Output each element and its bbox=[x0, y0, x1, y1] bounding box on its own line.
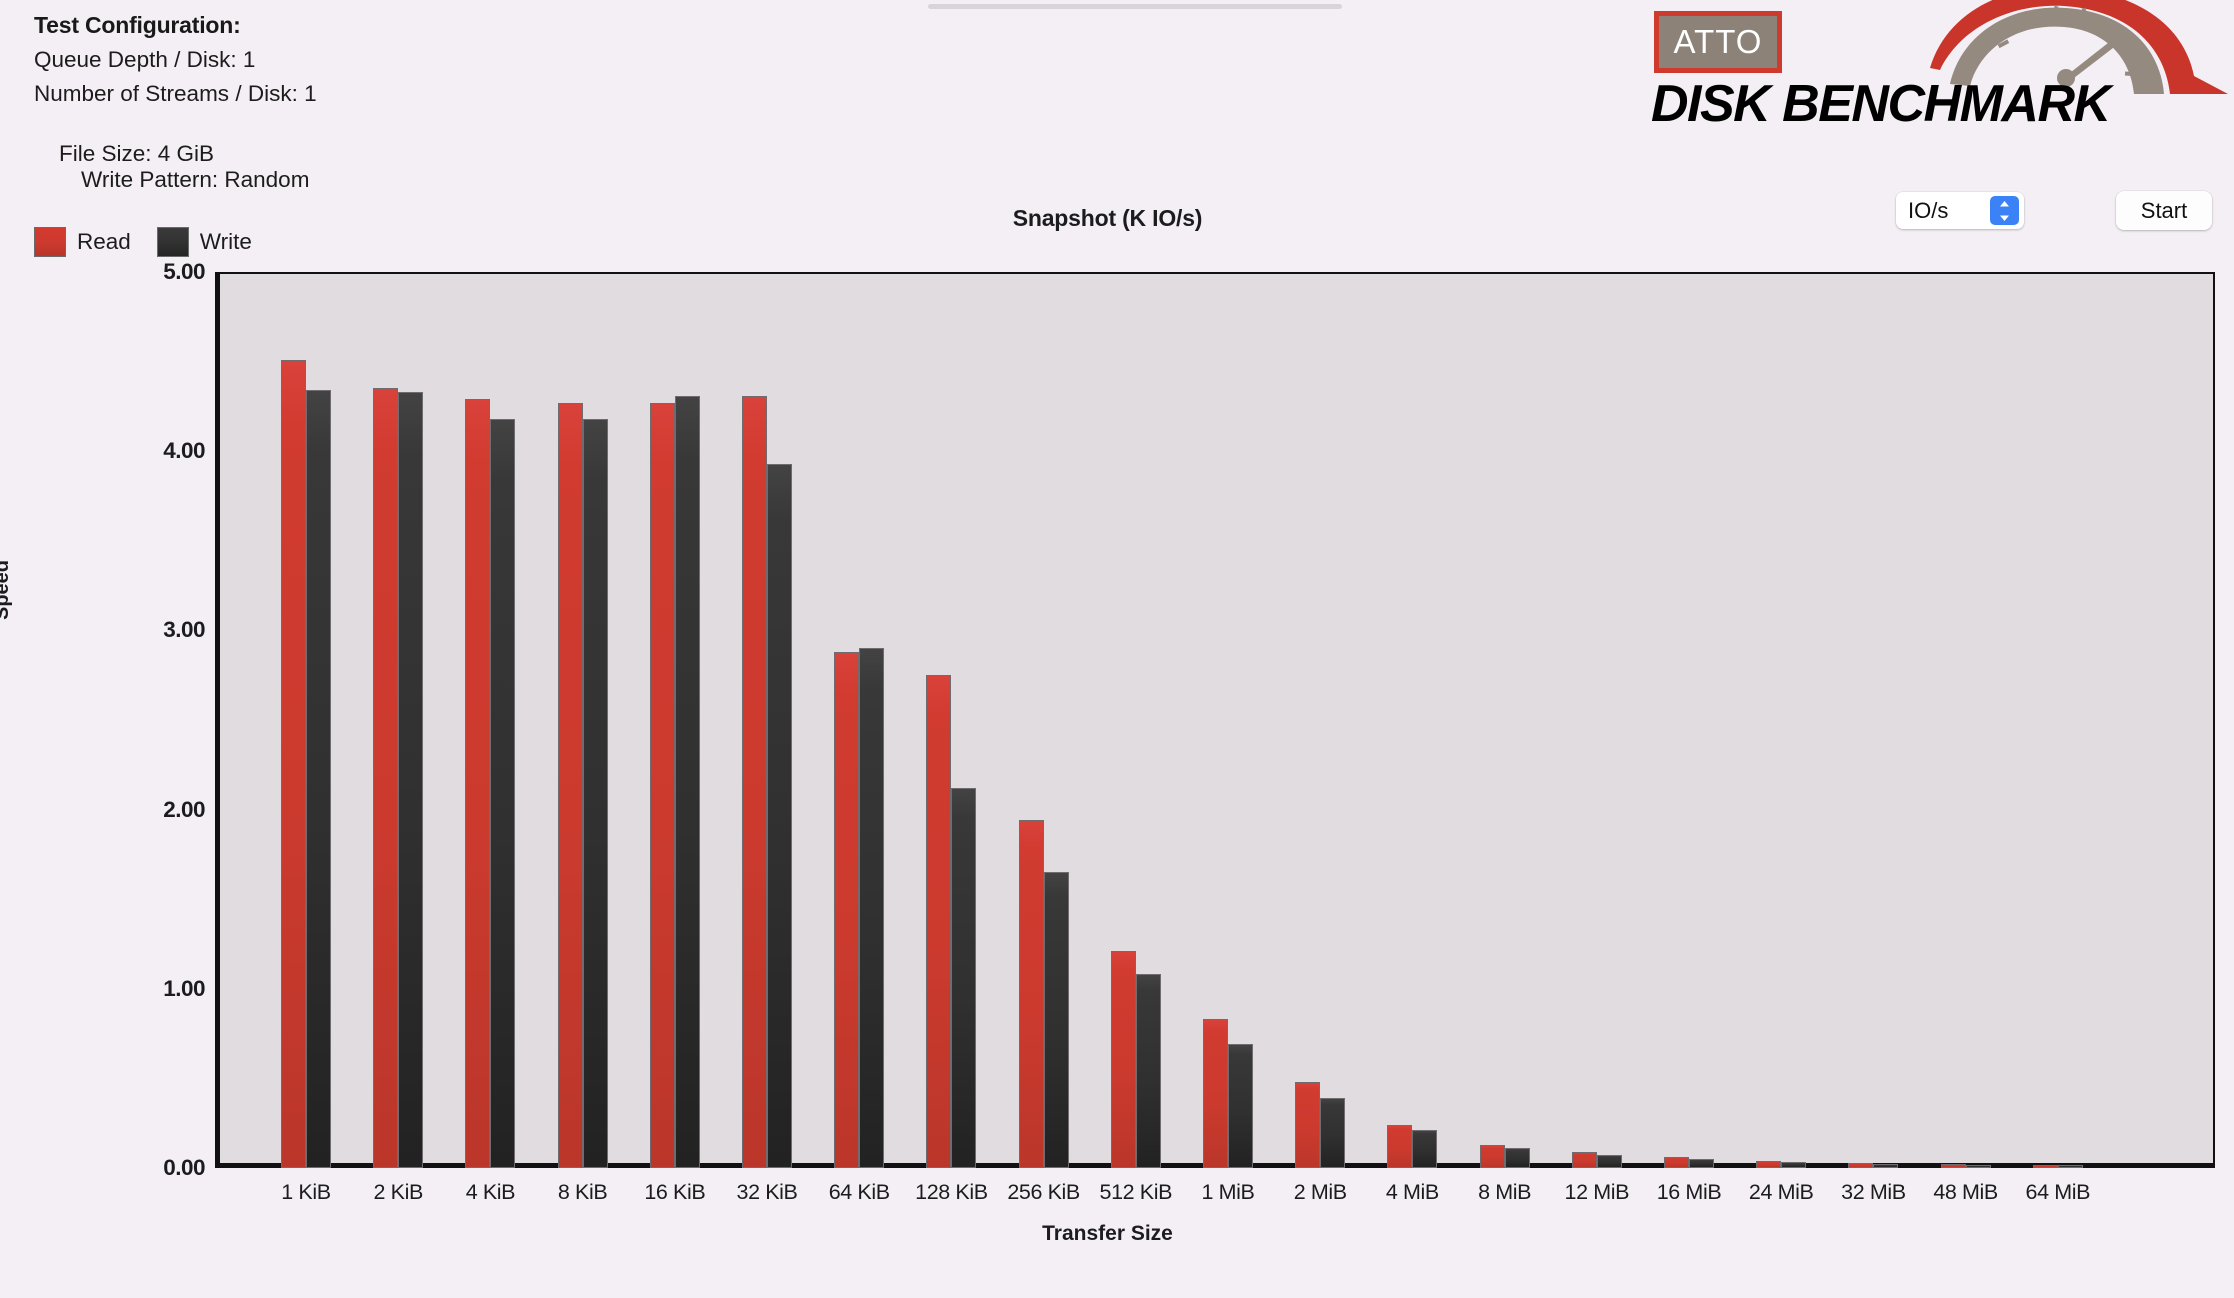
bar-group bbox=[1111, 272, 1161, 1168]
bar-group bbox=[1480, 272, 1530, 1168]
bar-read bbox=[465, 399, 490, 1168]
x-axis-label: 1 MiB bbox=[1202, 1180, 1255, 1205]
bar-group bbox=[1387, 272, 1437, 1168]
bar-group bbox=[1756, 272, 1806, 1168]
bar-write bbox=[675, 396, 700, 1168]
bar-read bbox=[926, 675, 951, 1168]
y-axis-label: 4.00 bbox=[163, 438, 205, 464]
legend-label-read: Read bbox=[77, 229, 131, 255]
bar-read bbox=[1111, 951, 1136, 1168]
bar-write bbox=[2058, 1165, 2083, 1168]
chart-plot bbox=[215, 272, 2215, 1168]
bar-group bbox=[1941, 272, 1991, 1168]
chart-title: Snapshot (K IO/s) bbox=[0, 205, 2234, 232]
atto-badge-text: ATTO bbox=[1674, 23, 1763, 61]
bar-read bbox=[1019, 820, 1044, 1168]
bar-write bbox=[1228, 1044, 1253, 1168]
bar-read bbox=[1756, 1161, 1781, 1168]
x-axis-label: 8 MiB bbox=[1478, 1180, 1531, 1205]
y-axis-label: 3.00 bbox=[163, 617, 205, 643]
bar-write bbox=[767, 464, 792, 1168]
bar-read bbox=[1203, 1019, 1228, 1168]
bar-read bbox=[281, 360, 306, 1168]
config-queue-depth: Queue Depth / Disk: 1 bbox=[34, 47, 794, 73]
bar-group bbox=[650, 272, 700, 1168]
bar-write bbox=[1044, 872, 1069, 1168]
bar-write bbox=[951, 788, 976, 1168]
bar-group bbox=[465, 272, 515, 1168]
bar-write bbox=[1873, 1164, 1898, 1168]
bar-write bbox=[1412, 1130, 1437, 1168]
config-heading: Test Configuration: bbox=[34, 12, 794, 39]
y-axis-label: 2.00 bbox=[163, 797, 205, 823]
bar-write bbox=[490, 419, 515, 1168]
x-axis-label: 48 MiB bbox=[1933, 1180, 1998, 1205]
bar-group bbox=[373, 272, 423, 1168]
bar-write bbox=[583, 419, 608, 1168]
bar-group bbox=[2033, 272, 2083, 1168]
bar-group bbox=[1019, 272, 1069, 1168]
x-axis-label: 8 KiB bbox=[558, 1180, 607, 1205]
bar-group bbox=[281, 272, 331, 1168]
x-axis-label: 32 MiB bbox=[1841, 1180, 1906, 1205]
y-axis-title: Speed bbox=[0, 560, 14, 620]
bar-read bbox=[1572, 1152, 1597, 1168]
bar-group bbox=[1295, 272, 1345, 1168]
bar-group bbox=[1203, 272, 1253, 1168]
y-axis-label: 1.00 bbox=[163, 976, 205, 1002]
bar-group bbox=[742, 272, 792, 1168]
config-file-size-pattern: File Size: 4 GiB Write Pattern: Random bbox=[34, 115, 794, 219]
bar-series-container bbox=[215, 272, 2215, 1168]
atto-badge: ATTO bbox=[1654, 11, 1782, 73]
x-axis-label: 16 KiB bbox=[644, 1180, 705, 1205]
bar-group bbox=[1664, 272, 1714, 1168]
config-write-pattern: Write Pattern: Random bbox=[81, 167, 309, 192]
bar-group bbox=[1572, 272, 1622, 1168]
bar-read bbox=[558, 403, 583, 1168]
x-axis-label: 24 MiB bbox=[1749, 1180, 1814, 1205]
config-streams: Number of Streams / Disk: 1 bbox=[34, 81, 794, 107]
bar-write bbox=[1505, 1148, 1530, 1168]
bar-write bbox=[1781, 1162, 1806, 1168]
bar-group bbox=[558, 272, 608, 1168]
x-axis-label: 1 KiB bbox=[281, 1180, 330, 1205]
bar-write bbox=[1689, 1159, 1714, 1168]
bar-write bbox=[1597, 1155, 1622, 1168]
x-axis-label: 128 KiB bbox=[915, 1180, 988, 1205]
bar-read bbox=[1941, 1164, 1966, 1168]
bar-group bbox=[926, 272, 976, 1168]
x-axis-tick-labels: 1 KiB2 KiB4 KiB8 KiB16 KiB32 KiB64 KiB12… bbox=[215, 1180, 2215, 1214]
bar-read bbox=[742, 396, 767, 1168]
x-axis-label: 4 KiB bbox=[466, 1180, 515, 1205]
x-axis-label: 512 KiB bbox=[1100, 1180, 1173, 1205]
bar-read bbox=[834, 652, 859, 1168]
logo-wordmark: DISK BENCHMARK bbox=[1651, 74, 2110, 134]
x-axis-label: 4 MiB bbox=[1386, 1180, 1439, 1205]
bar-read bbox=[373, 388, 398, 1168]
x-axis-label: 64 MiB bbox=[2026, 1180, 2091, 1205]
bar-write bbox=[1136, 974, 1161, 1168]
bar-read bbox=[1848, 1163, 1873, 1168]
bar-group bbox=[834, 272, 884, 1168]
x-axis-label: 2 MiB bbox=[1294, 1180, 1347, 1205]
y-axis-tick-labels: 0.001.002.003.004.005.00 bbox=[90, 272, 205, 1168]
bar-write bbox=[398, 392, 423, 1168]
legend-label-write: Write bbox=[200, 229, 252, 255]
x-axis-title: Transfer Size bbox=[0, 1222, 2234, 1246]
bar-write bbox=[306, 390, 331, 1168]
atto-logo: ATTO DISK BENCHMARK bbox=[1654, 2, 2234, 127]
bar-read bbox=[650, 403, 675, 1168]
bar-read bbox=[1387, 1125, 1412, 1168]
x-axis-label: 32 KiB bbox=[737, 1180, 798, 1205]
x-axis-label: 64 KiB bbox=[829, 1180, 890, 1205]
bar-read bbox=[1295, 1082, 1320, 1168]
bar-read bbox=[1664, 1157, 1689, 1168]
bar-read bbox=[2033, 1165, 2058, 1168]
bar-read bbox=[1480, 1145, 1505, 1168]
x-axis-label: 12 MiB bbox=[1565, 1180, 1630, 1205]
bar-write bbox=[859, 648, 884, 1168]
config-file-size: File Size: 4 GiB bbox=[59, 141, 214, 166]
progress-bar bbox=[928, 4, 1342, 9]
y-axis-label: 0.00 bbox=[163, 1155, 205, 1181]
y-axis-label: 5.00 bbox=[163, 259, 205, 285]
bar-write bbox=[1966, 1165, 1991, 1168]
x-axis-label: 256 KiB bbox=[1007, 1180, 1080, 1205]
x-axis-label: 16 MiB bbox=[1657, 1180, 1722, 1205]
bar-write bbox=[1320, 1098, 1345, 1168]
x-axis-label: 2 KiB bbox=[373, 1180, 422, 1205]
bar-group bbox=[1848, 272, 1898, 1168]
